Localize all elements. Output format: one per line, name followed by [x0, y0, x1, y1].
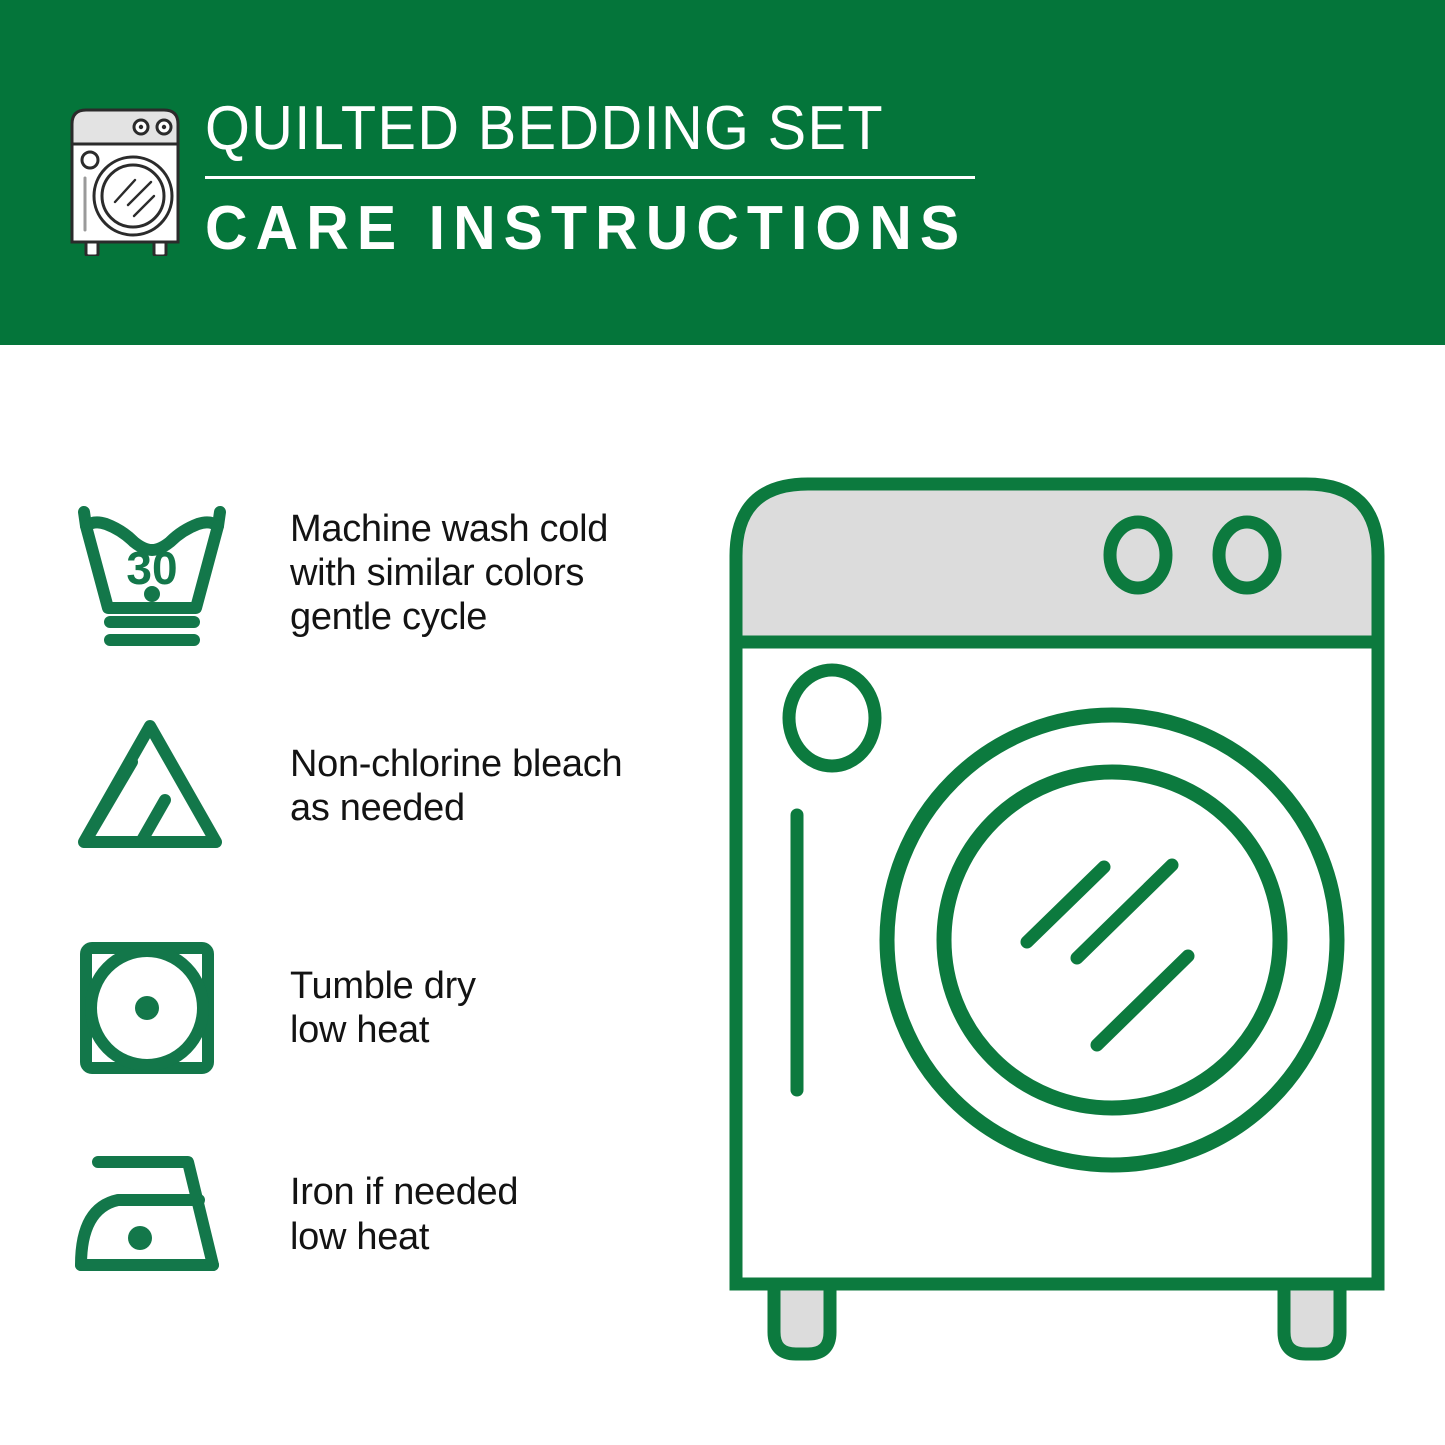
non-chlorine-bleach-triangle-icon — [72, 716, 232, 856]
care-row-label: Tumble dry low heat — [290, 964, 476, 1052]
page-title: QUILTED BEDDING SET — [205, 98, 940, 160]
care-row-bleach: Non-chlorine bleach as needed — [72, 716, 622, 856]
washing-machine-illustration — [722, 470, 1392, 1370]
care-row-label: Non-chlorine bleach as needed — [290, 742, 622, 830]
iron-low-heat-icon — [72, 1152, 232, 1277]
care-row-tumble-dry: Tumble dry low heat — [72, 938, 476, 1078]
page-subtitle: CARE INSTRUCTIONS — [205, 196, 956, 261]
title-divider — [205, 176, 975, 179]
care-row-machine-wash: 30 Machine wash cold with similar colors… — [72, 498, 608, 648]
care-row-iron: Iron if needed low heat — [72, 1152, 518, 1277]
header-washing-machine-icon — [62, 104, 188, 256]
care-row-label: Machine wash cold with similar colors ge… — [290, 507, 608, 639]
header-text-block: QUILTED BEDDING SET CARE INSTRUCTIONS — [205, 98, 995, 261]
wash-tub-30-gentle-icon: 30 — [72, 498, 232, 648]
care-row-label: Iron if needed low heat — [290, 1170, 518, 1258]
tumble-dry-low-icon — [72, 938, 232, 1078]
care-instructions-card: QUILTED BEDDING SET CARE INSTRUCTIONS 30 — [0, 0, 1445, 1445]
header-banner: QUILTED BEDDING SET CARE INSTRUCTIONS — [0, 0, 1445, 345]
